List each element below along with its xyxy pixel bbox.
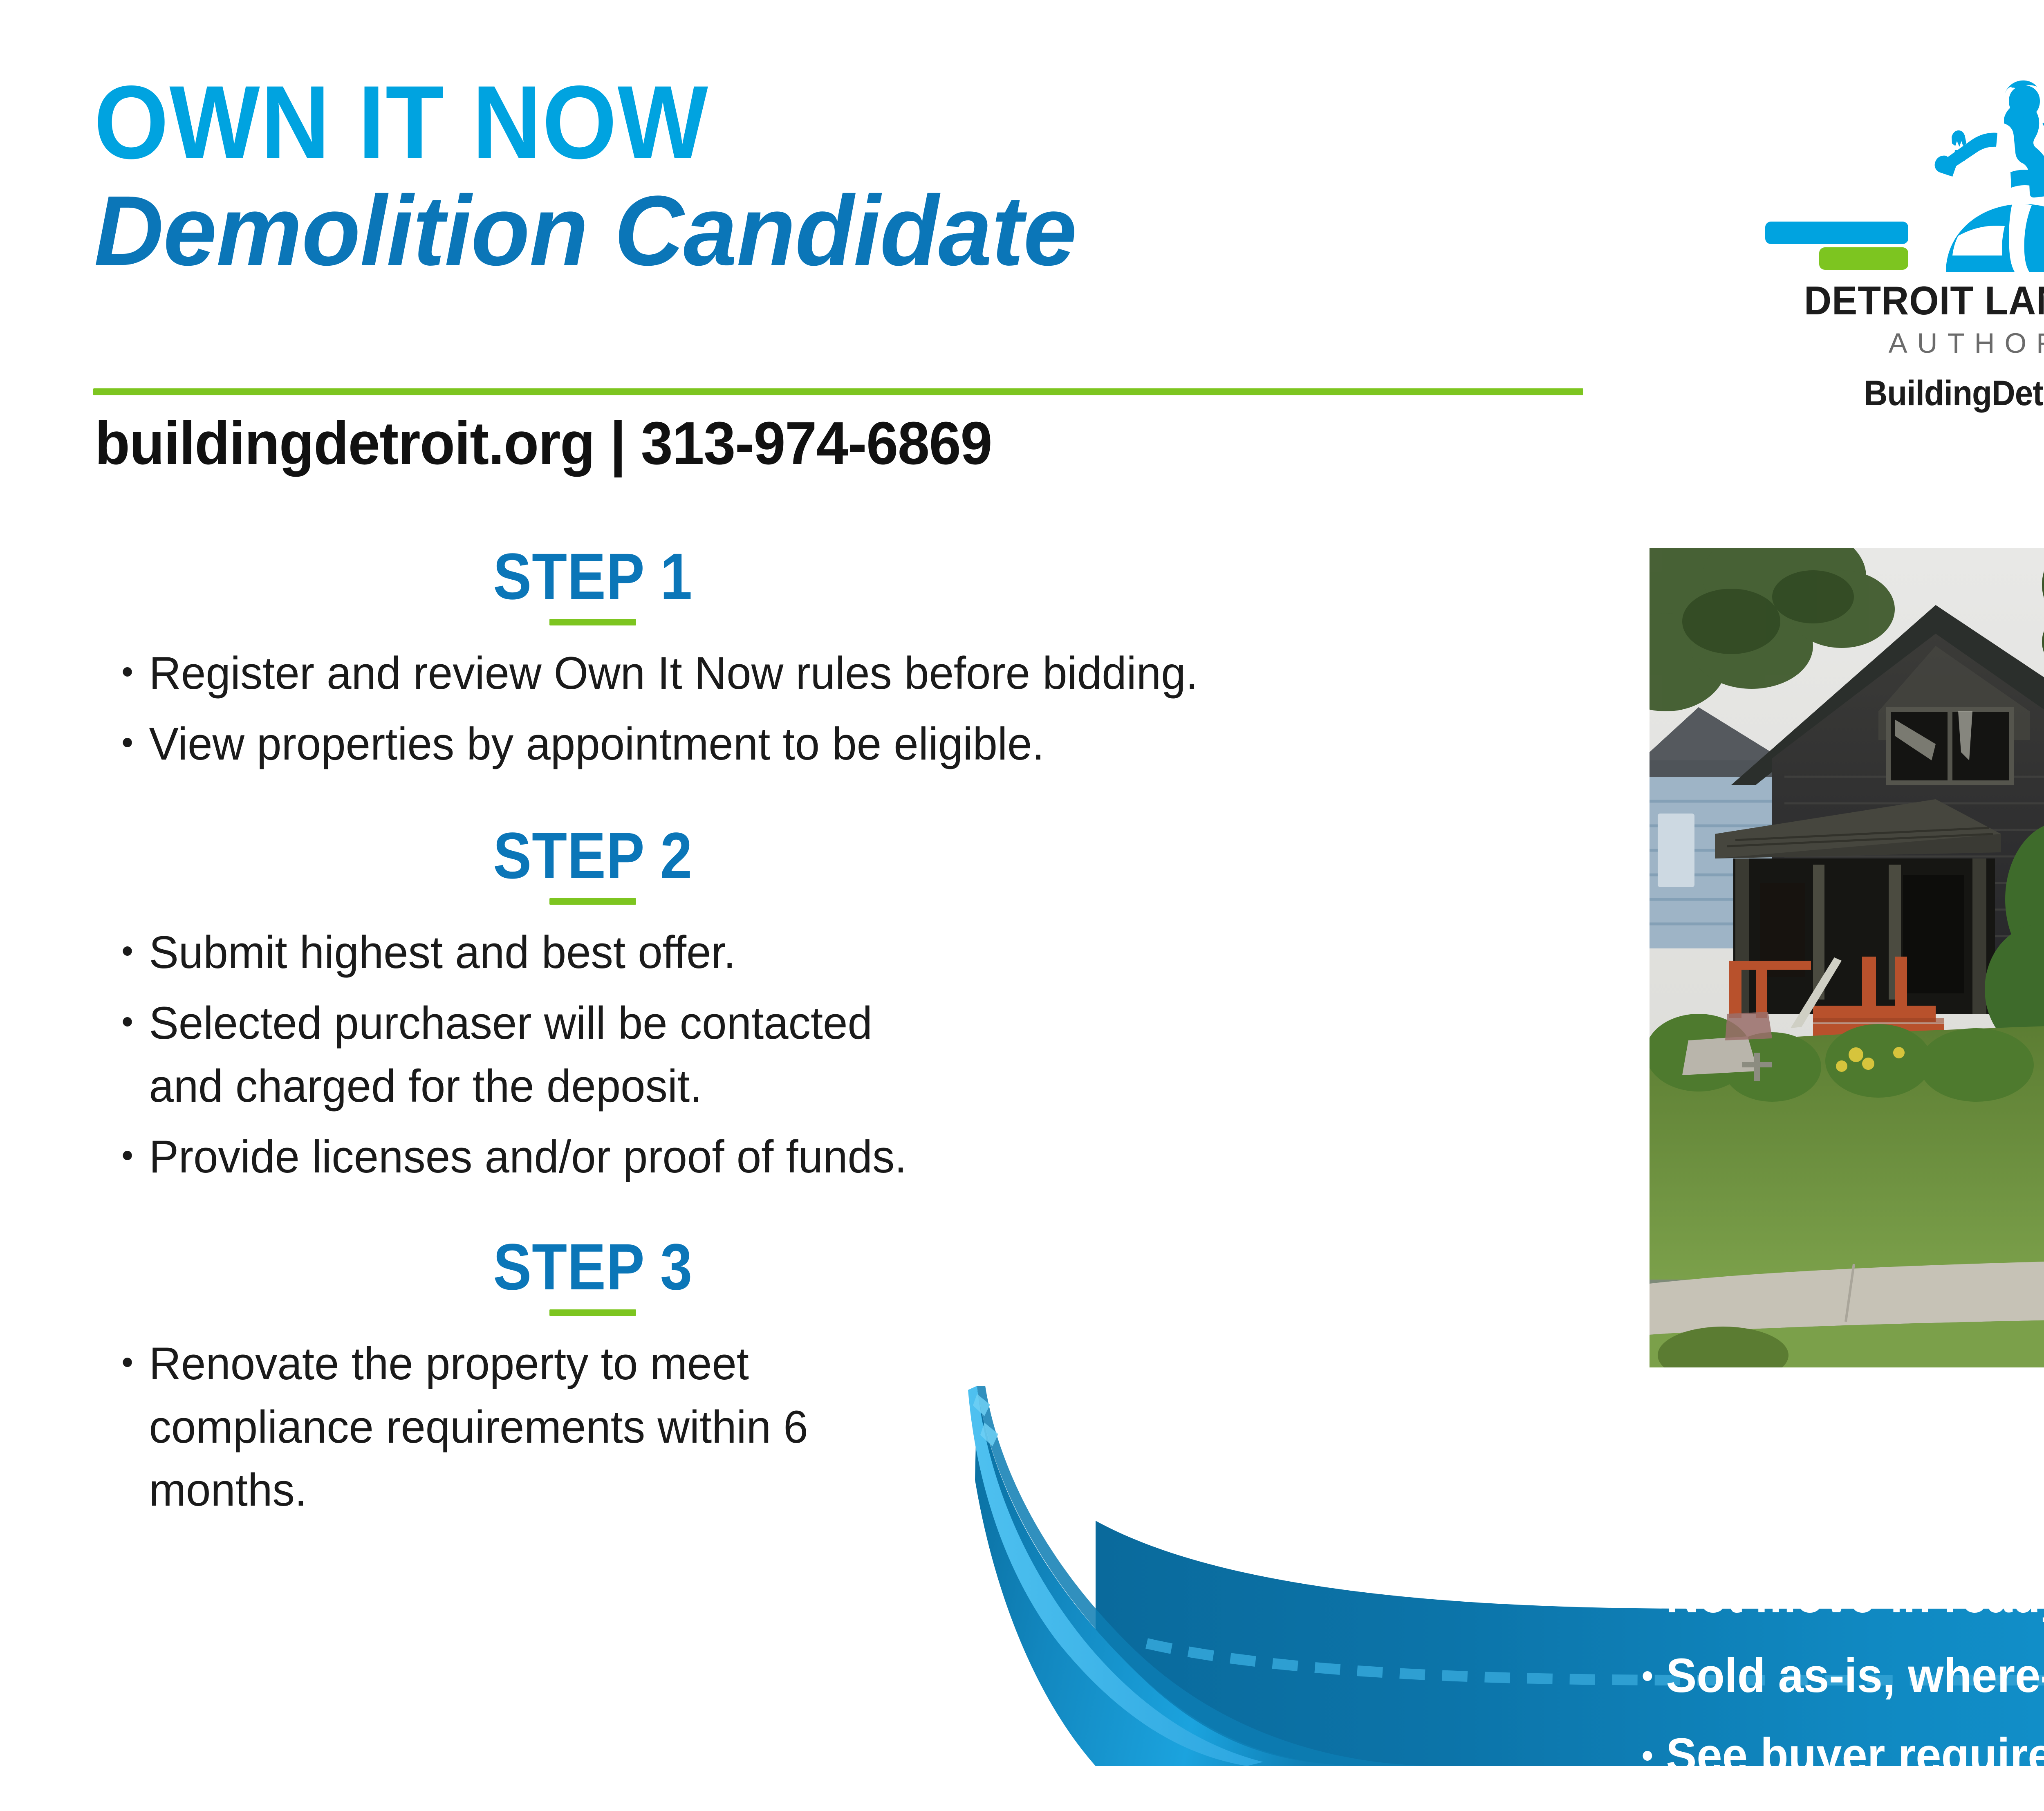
logo-org-sub: AUTHORITY bbox=[1754, 327, 2044, 359]
page-title-secondary: Demolition Candidate bbox=[94, 181, 1561, 280]
step-group-2: STEP 2 Submit highest and best offer. Se… bbox=[102, 823, 1500, 1188]
logo-org-name: DETROIT LAND BANK bbox=[1766, 278, 2044, 324]
steps-column: STEP 1 Register and review Own It Now ru… bbox=[102, 544, 1500, 1529]
list-item: Register and review Own It Now rules bef… bbox=[102, 642, 1458, 705]
step-3-list: Renovate the property to meet compliance… bbox=[102, 1332, 1500, 1522]
list-item: Renovate the property to meet compliance… bbox=[102, 1332, 974, 1522]
logo-url[interactable]: BuildingDetroit.org bbox=[1772, 373, 2044, 414]
ribbon-notes-list: Not move-in ready Sold as-is, where-is S… bbox=[1631, 1572, 2044, 1811]
step-1-list: Register and review Own It Now rules bef… bbox=[102, 642, 1500, 776]
step-2-header: STEP 2 bbox=[102, 823, 1083, 905]
list-item: Selected purchaser will be contacted and… bbox=[102, 992, 902, 1118]
spirit-of-detroit-icon bbox=[1754, 76, 2044, 272]
step-3-underline bbox=[549, 1309, 636, 1316]
list-item: See buyer requirements bbox=[1631, 1731, 2044, 1780]
step-2-underline bbox=[549, 898, 636, 905]
step-1-header: STEP 1 bbox=[102, 544, 1083, 625]
list-item: Not move-in ready bbox=[1631, 1572, 2044, 1620]
logo-bars-left bbox=[1765, 222, 1908, 270]
step-group-3: STEP 3 Renovate the property to meet com… bbox=[102, 1234, 1500, 1522]
property-photo-illustration bbox=[1650, 548, 2044, 1367]
step-group-1: STEP 1 Register and review Own It Now ru… bbox=[102, 544, 1500, 776]
detroit-land-bank-logo: DETROIT LAND BANK AUTHORITY BuildingDetr… bbox=[1754, 76, 2044, 414]
step-3-title: STEP 3 bbox=[493, 1234, 693, 1300]
step-2-title: STEP 2 bbox=[493, 823, 693, 888]
step-1-underline bbox=[549, 619, 636, 625]
header-divider-rule bbox=[93, 388, 1583, 395]
step-1-title: STEP 1 bbox=[493, 544, 693, 609]
step-3-header: STEP 3 bbox=[102, 1234, 1083, 1316]
list-item: Sold as-is, where-is bbox=[1631, 1652, 2044, 1700]
contact-line[interactable]: buildingdetroit.org | 313-974-6869 bbox=[95, 409, 992, 478]
property-photo bbox=[1650, 548, 2044, 1367]
list-item: Provide licenses and/or proof of funds. bbox=[102, 1125, 1458, 1189]
page-title-primary: OWN IT NOW bbox=[94, 72, 1486, 174]
list-item: Submit highest and best offer. bbox=[102, 921, 1458, 984]
step-2-list: Submit highest and best offer. Selected … bbox=[102, 921, 1500, 1188]
header: OWN IT NOW Demolition Candidate bbox=[94, 72, 1607, 280]
list-item: View properties by appointment to be eli… bbox=[102, 713, 1458, 776]
